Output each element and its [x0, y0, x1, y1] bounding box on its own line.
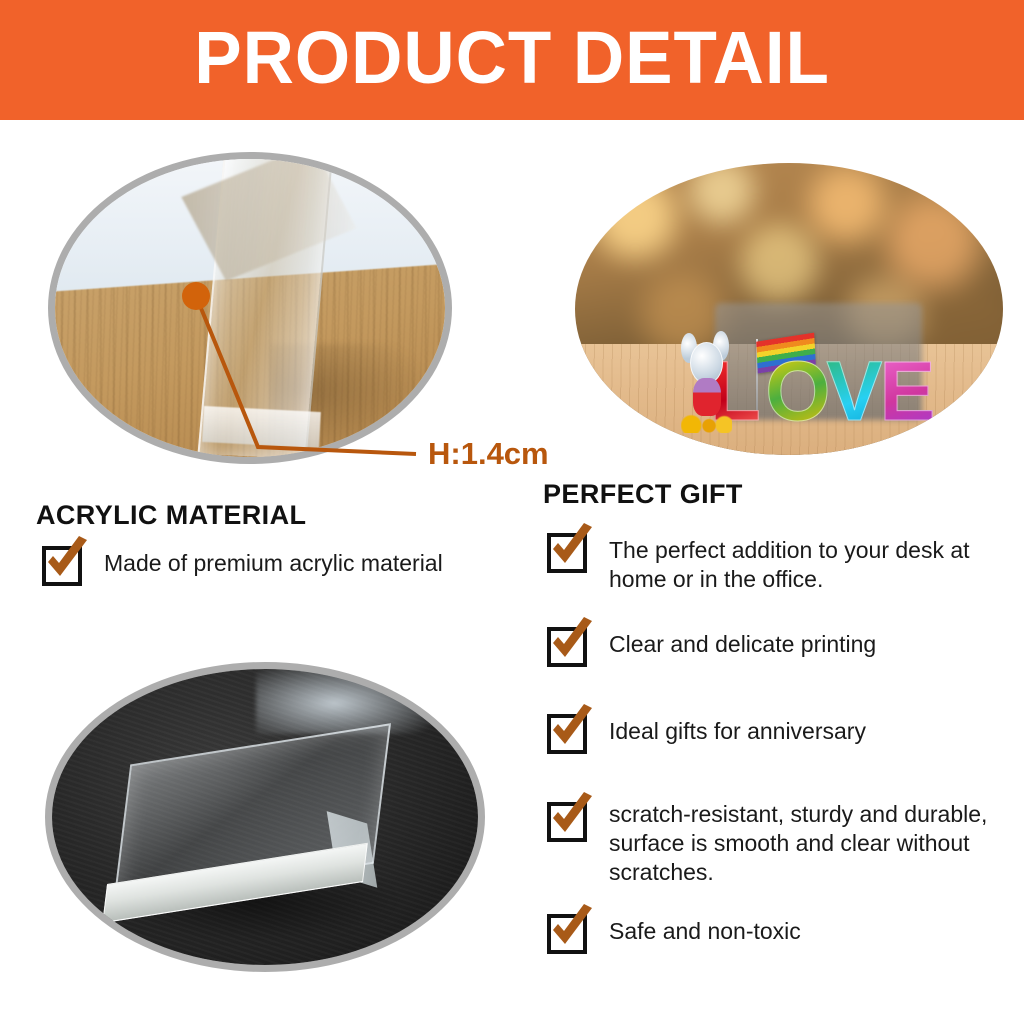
feature-text: Ideal gifts for anniversary [597, 708, 866, 746]
checkbox-checked [545, 708, 597, 756]
feature-text: Clear and delicate printing [597, 621, 876, 659]
thickness-photo-scene [55, 159, 445, 457]
check-icon [545, 904, 597, 956]
crystal-letter-v: V [826, 349, 882, 433]
crystal-gems [681, 414, 732, 433]
crystal-letter-e: E [879, 349, 935, 433]
block-photo [45, 662, 485, 972]
checkbox-checked [40, 540, 92, 588]
feature-text: Safe and non-toxic [597, 908, 801, 946]
check-icon [545, 617, 597, 669]
feature-item: Made of premium acrylic material [40, 540, 510, 588]
gift-photo: L O V E [575, 163, 1003, 455]
acrylic-block-base [202, 406, 321, 448]
page-title: PRODUCT DETAIL [194, 21, 830, 99]
feature-text: The perfect addition to your desk at hom… [597, 527, 1010, 594]
slate-highlight [256, 662, 452, 734]
check-icon [545, 792, 597, 844]
check-icon [545, 523, 597, 575]
feature-item: Clear and delicate printing [545, 621, 1010, 669]
check-icon [545, 704, 597, 756]
section-heading-gift: PERFECT GIFT [543, 479, 743, 510]
product-detail-page: PRODUCT DETAIL L O V E [0, 0, 1024, 1024]
checkbox-checked [545, 527, 597, 575]
thickness-label: H:1.4cm [428, 436, 549, 472]
checkbox-checked [545, 621, 597, 669]
feature-item: Safe and non-toxic [545, 908, 1010, 956]
header-banner: PRODUCT DETAIL [0, 0, 1024, 120]
feature-item: scratch-resistant, sturdy and durable, s… [545, 796, 1010, 886]
feature-text: Made of premium acrylic material [92, 540, 443, 578]
feature-item: The perfect addition to your desk at hom… [545, 527, 1010, 594]
feature-text: scratch-resistant, sturdy and durable, s… [597, 796, 1010, 886]
checkbox-checked [545, 908, 597, 956]
section-heading-acrylic: ACRYLIC MATERIAL [36, 500, 306, 531]
checkbox-checked [545, 796, 597, 844]
crystal-letter-o: O [765, 349, 830, 433]
crystal-love-letters: L O V E [678, 315, 943, 438]
thickness-photo [48, 152, 452, 464]
check-icon [40, 536, 92, 588]
feature-item: Ideal gifts for anniversary [545, 708, 1010, 756]
mouse-body [693, 378, 721, 416]
crystal-mouse-figurine [680, 327, 733, 432]
